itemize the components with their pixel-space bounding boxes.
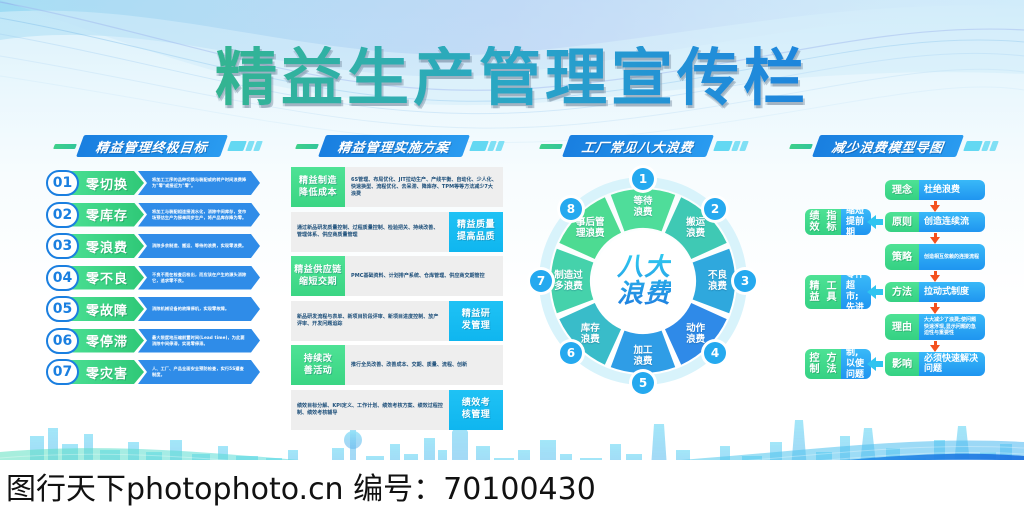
- section-header-wastes: 工厂常见八大浪费: [540, 135, 747, 157]
- goal-name-banner: 零故障: [70, 297, 144, 321]
- plan-description: 通过新品研发质量控制、过程质量控制、检验把关、持续改善、管理体系、供应商质量管理: [297, 225, 443, 239]
- goal-name-banner: 零浪费: [70, 234, 144, 258]
- down-arrow-icon: [930, 275, 940, 282]
- wheel-segment-label: 搬运 浪费: [670, 217, 722, 239]
- plan-tag-line: 精益供应链: [294, 265, 342, 276]
- plan-tag: 精益质量提高品质: [449, 212, 503, 252]
- goal-description-banner: 最大限度地压缩前置时间(Lead time)，为此要消除中间停滞，实现零停滞。: [138, 329, 260, 353]
- down-arrow-icon: [930, 205, 940, 212]
- model-chain-value-box: 杜绝浪费: [919, 180, 985, 200]
- goal-number-badge: 05: [46, 296, 79, 322]
- header-dash-icon: [53, 144, 77, 149]
- plan-tag-line: 提高品质: [457, 232, 495, 243]
- model-chain-value-box: 拉动式制度: [919, 282, 985, 302]
- wheel-number-badge: 5: [632, 372, 654, 394]
- goal-name: 零库存: [86, 205, 128, 224]
- model-side-key: 精益工具: [805, 275, 841, 309]
- model-chain-key: 影响: [885, 352, 919, 376]
- goal-name: 零切换: [86, 174, 128, 193]
- section-header-plan: 精益管理实施方案: [296, 135, 503, 157]
- header-tail-icon: [471, 141, 503, 151]
- plan-row[interactable]: 精益研发管理新品研发流程与表单、新项目阶段评审、新项目进度控制、放产评审、开发问…: [291, 301, 503, 341]
- left-arrow-icon: [867, 357, 876, 371]
- wheel-segment-label: 事后管 理浪费: [564, 217, 616, 239]
- header-dash-icon: [295, 144, 319, 149]
- wheel-number-badge: 2: [704, 198, 726, 220]
- section-title-plan: 精益管理实施方案: [337, 137, 452, 156]
- wheel-center-label: 八大 浪费: [593, 230, 695, 332]
- plan-tag: 持续改善活动: [291, 345, 345, 385]
- goal-number-badge: 06: [46, 328, 79, 354]
- goal-description-banner: 消除机械设备的故障停机，实现零故障。: [138, 297, 260, 321]
- model-side-value: 看板;零件超市;先进先出通路: [846, 275, 866, 309]
- header-plate: 减少浪费模型导图: [812, 135, 964, 157]
- plan-row[interactable]: 绩效考核管理绩效目标分解、KPI定义、工作计划、绩效考核方案、绩效过程控制、绩效…: [291, 390, 503, 430]
- goal-name-banner: 零不良: [70, 266, 144, 290]
- header-tail-icon: [715, 141, 747, 151]
- plan-tag-line: 降低成本: [299, 188, 337, 199]
- header-tail-icon: [229, 141, 261, 151]
- plan-tag-line: 缩短交期: [299, 277, 337, 288]
- plan-description: PMC基础资料、计划排产系统、仓库管理、供应商交期管控: [351, 273, 485, 280]
- wheel-segment-label: 等待 浪费: [617, 196, 669, 218]
- footer-watermark-bar: 图行天下photophoto.cn 编号：70100430: [0, 460, 1024, 512]
- goal-name-banner: 零灾害: [70, 360, 144, 384]
- down-arrow-icon: [930, 237, 940, 244]
- wheel-center-text: 八大 浪费: [617, 254, 671, 308]
- plan-tag: 绩效考核管理: [449, 390, 503, 430]
- goal-description: 消除多余制造、搬运、等待的浪费，实现零浪费。: [152, 243, 246, 249]
- goal-description: 最大限度地压缩前置时间(Lead time)，为此要消除中间停滞，实现零停滞。: [152, 335, 248, 346]
- goal-name: 零不良: [86, 268, 128, 287]
- model-side-value: 可视化控制,以使问题无所隐藏: [846, 349, 866, 379]
- model-side-node[interactable]: 绩效指标缩短提前期: [805, 209, 871, 235]
- goal-name-banner: 零切换: [70, 171, 144, 195]
- model-side-value: 缩短提前期: [846, 209, 866, 235]
- down-arrow-icon: [930, 307, 940, 314]
- goal-description: 消除机械设备的故障停机，实现零故障。: [152, 306, 229, 312]
- model-side-node[interactable]: 精益工具看板;零件超市;先进先出通路: [805, 275, 871, 309]
- section-header-model: 减少浪费模型导图: [790, 135, 997, 157]
- goal-name: 零浪费: [86, 237, 128, 256]
- model-chain-key: 理念: [885, 180, 919, 200]
- page-title: 精益生产管理宣传栏: [0, 46, 1024, 110]
- poster-stage: 精益生产管理宣传栏 精益生产管理宣传栏 精益管理终极目标 精益管理实施方案 工厂…: [0, 0, 1024, 512]
- plan-description-box: 新品研发流程与表单、新项目阶段评审、新项目进度控制、放产评审、开发问题追踪: [291, 301, 449, 341]
- plan-description: 新品研发流程与表单、新项目阶段评审、新项目进度控制、放产评审、开发问题追踪: [297, 314, 443, 328]
- plan-tag-line: 核管理: [462, 410, 491, 421]
- plan-row[interactable]: 精益制造降低成本6S管理、布局优化、JIT拉动生产、产线平衡、自动化、少人化、快…: [291, 167, 503, 207]
- plan-tag-line: 发管理: [462, 321, 491, 332]
- plan-tag-line: 精益研: [462, 309, 491, 320]
- header-plate: 精益管理实施方案: [318, 135, 470, 157]
- goal-description-banner: 人、工厂、产品全面安全预防检查，实行5S遵查制度。: [138, 360, 260, 384]
- left-arrow-stem-icon: [875, 361, 883, 367]
- model-chain-value: 大大减少了浪费;使问题快速浮现,显示问题的急迫性与重要性: [924, 317, 980, 336]
- section-title-goals: 精益管理终极目标: [95, 137, 210, 156]
- plan-description-box: 通过新品研发质量控制、过程质量控制、检验把关、持续改善、管理体系、供应商质量管理: [291, 212, 449, 252]
- plan-description: 6S管理、布局优化、JIT拉动生产、产线平衡、自动化、少人化、快速换型、流程优化…: [351, 177, 497, 198]
- plan-tag: 精益研发管理: [449, 301, 503, 341]
- left-arrow-icon: [867, 215, 876, 229]
- model-chain-node[interactable]: 策略创造相互依赖的连接流程: [885, 244, 985, 270]
- model-chain-node[interactable]: 理由大大减少了浪费;使问题快速浮现,显示问题的急迫性与重要性: [885, 314, 985, 340]
- model-chain-value-box: 创造连续流: [919, 212, 985, 232]
- left-arrow-stem-icon: [875, 219, 883, 225]
- plan-row[interactable]: 精益供应链缩短交期PMC基础资料、计划排产系统、仓库管理、供应商交期管控: [291, 256, 503, 296]
- model-chain-value: 杜绝浪费: [924, 185, 960, 195]
- wheel-number-badge: 1: [632, 168, 654, 190]
- header-tail-icon: [965, 141, 997, 151]
- model-chain-value-box: 必须快速解决问题: [919, 352, 985, 376]
- goal-name: 零停滞: [86, 331, 128, 350]
- model-chain-key: 原则: [885, 212, 919, 232]
- goal-description: 将加工工序的品种切换与装配或的转产时间浪费降为"零"或接近为"零"。: [152, 177, 248, 188]
- plan-description-box: 6S管理、布局优化、JIT拉动生产、产线平衡、自动化、少人化、快速换型、流程优化…: [345, 167, 503, 207]
- wheel-segment-label: 加工 浪费: [617, 345, 669, 367]
- model-chain-node[interactable]: 方法拉动式制度: [885, 282, 985, 302]
- goal-number-badge: 01: [46, 170, 79, 196]
- plan-tag-line: 绩效考: [462, 398, 491, 409]
- model-side-key: 绩效指标: [805, 209, 841, 235]
- plan-tag-line: 持续改: [304, 354, 333, 365]
- plan-description-box: 绩效目标分解、KPI定义、工作计划、绩效考核方案、绩效过程控制、绩效考核辅导: [291, 390, 449, 430]
- goal-description-banner: 将加工工序的品种切换与装配或的转产时间浪费降为"零"或接近为"零"。: [138, 171, 260, 195]
- plan-description: 绩效目标分解、KPI定义、工作计划、绩效考核方案、绩效过程控制、绩效考核辅导: [297, 403, 443, 417]
- goal-description: 将加工与装配相连接流水化，消除中间库存，变市场预估生产为接单同步生产，将产品库存…: [152, 209, 248, 220]
- plan-tag-line: 精益质量: [457, 220, 495, 231]
- header-plate: 精益管理终极目标: [76, 135, 228, 157]
- model-chain-value: 拉动式制度: [924, 287, 969, 297]
- plan-tag-line: 精益制造: [299, 176, 337, 187]
- model-chain-value: 创造连续流: [924, 217, 969, 227]
- wheel-number-badge: 8: [560, 198, 582, 220]
- model-side-key: 控制方法: [805, 349, 841, 379]
- model-side-node[interactable]: 控制方法可视化控制,以使问题无所隐藏: [805, 349, 871, 379]
- model-chain-value: 创造相互依赖的连接流程: [924, 254, 979, 260]
- goal-name-banner: 零库存: [70, 203, 144, 227]
- goal-number-badge: 03: [46, 233, 79, 259]
- watermark-text: 图行天下photophoto.cn 编号：70100430: [6, 464, 596, 508]
- goal-description-banner: 将加工与装配相连接流水化，消除中间库存，变市场预估生产为接单同步生产，将产品库存…: [138, 203, 260, 227]
- plan-row[interactable]: 精益质量提高品质通过新品研发质量控制、过程质量控制、检验把关、持续改善、管理体系…: [291, 212, 503, 252]
- plan-tag: 精益制造降低成本: [291, 167, 345, 207]
- down-arrow-icon: [930, 345, 940, 352]
- eight-wastes-wheel: 八大 浪费 等待 浪费1搬运 浪费2不良 浪费3动作 浪费4加工 浪费5库存 浪…: [534, 168, 752, 398]
- model-chain-node[interactable]: 理念杜绝浪费: [885, 180, 985, 200]
- section-title-model: 减少浪费模型导图: [831, 137, 946, 156]
- goal-description-banner: 消除多余制造、搬运、等待的浪费，实现零浪费。: [138, 234, 260, 258]
- goal-description-banner: 不良不是在检查后检出，而应该在产生的源头消除它，追求零不良。: [138, 266, 260, 290]
- plan-description-box: PMC基础资料、计划排产系统、仓库管理、供应商交期管控: [345, 256, 503, 296]
- goal-number-badge: 02: [46, 202, 79, 228]
- model-chain-value-box: 创造相互依赖的连接流程: [919, 244, 985, 270]
- model-chain-key: 理由: [885, 314, 919, 340]
- model-chain-node[interactable]: 影响必须快速解决问题: [885, 352, 985, 376]
- header-plate: 工厂常见八大浪费: [562, 135, 714, 157]
- wheel-number-badge: 7: [530, 270, 552, 292]
- model-chain-value: 必须快速解决问题: [924, 354, 980, 374]
- plan-description: 推行全员改善、改善成本、交期、质量、流程、创新: [351, 362, 467, 369]
- section-header-goals: 精益管理终极目标: [54, 135, 261, 157]
- model-chain-value-box: 大大减少了浪费;使问题快速浮现,显示问题的急迫性与重要性: [919, 314, 985, 340]
- goal-number-badge: 07: [46, 359, 79, 385]
- plan-description-box: 推行全员改善、改善成本、交期、质量、流程、创新: [345, 345, 503, 385]
- left-arrow-icon: [867, 285, 876, 299]
- goal-description: 不良不是在检查后检出，而应该在产生的源头消除它，追求零不良。: [152, 272, 248, 283]
- goal-description: 人、工厂、产品全面安全预防检查，实行5S遵查制度。: [152, 366, 248, 377]
- model-chain-key: 策略: [885, 244, 919, 270]
- plan-tag: 精益供应链缩短交期: [291, 256, 345, 296]
- model-chain-node[interactable]: 原则创造连续流: [885, 212, 985, 232]
- model-chain-key: 方法: [885, 282, 919, 302]
- goal-name-banner: 零停滞: [70, 329, 144, 353]
- header-dash-icon: [789, 144, 813, 149]
- wheel-number-badge: 6: [560, 342, 582, 364]
- left-arrow-stem-icon: [875, 289, 883, 295]
- section-title-wastes: 工厂常见八大浪费: [581, 137, 696, 156]
- plan-row[interactable]: 持续改善活动推行全员改善、改善成本、交期、质量、流程、创新: [291, 345, 503, 385]
- header-dash-icon: [539, 144, 563, 149]
- goal-number-badge: 04: [46, 265, 79, 291]
- goal-name: 零故障: [86, 300, 128, 319]
- goal-name: 零灾害: [86, 363, 128, 382]
- wheel-number-badge: 3: [734, 270, 756, 292]
- plan-tag-line: 善活动: [304, 366, 333, 377]
